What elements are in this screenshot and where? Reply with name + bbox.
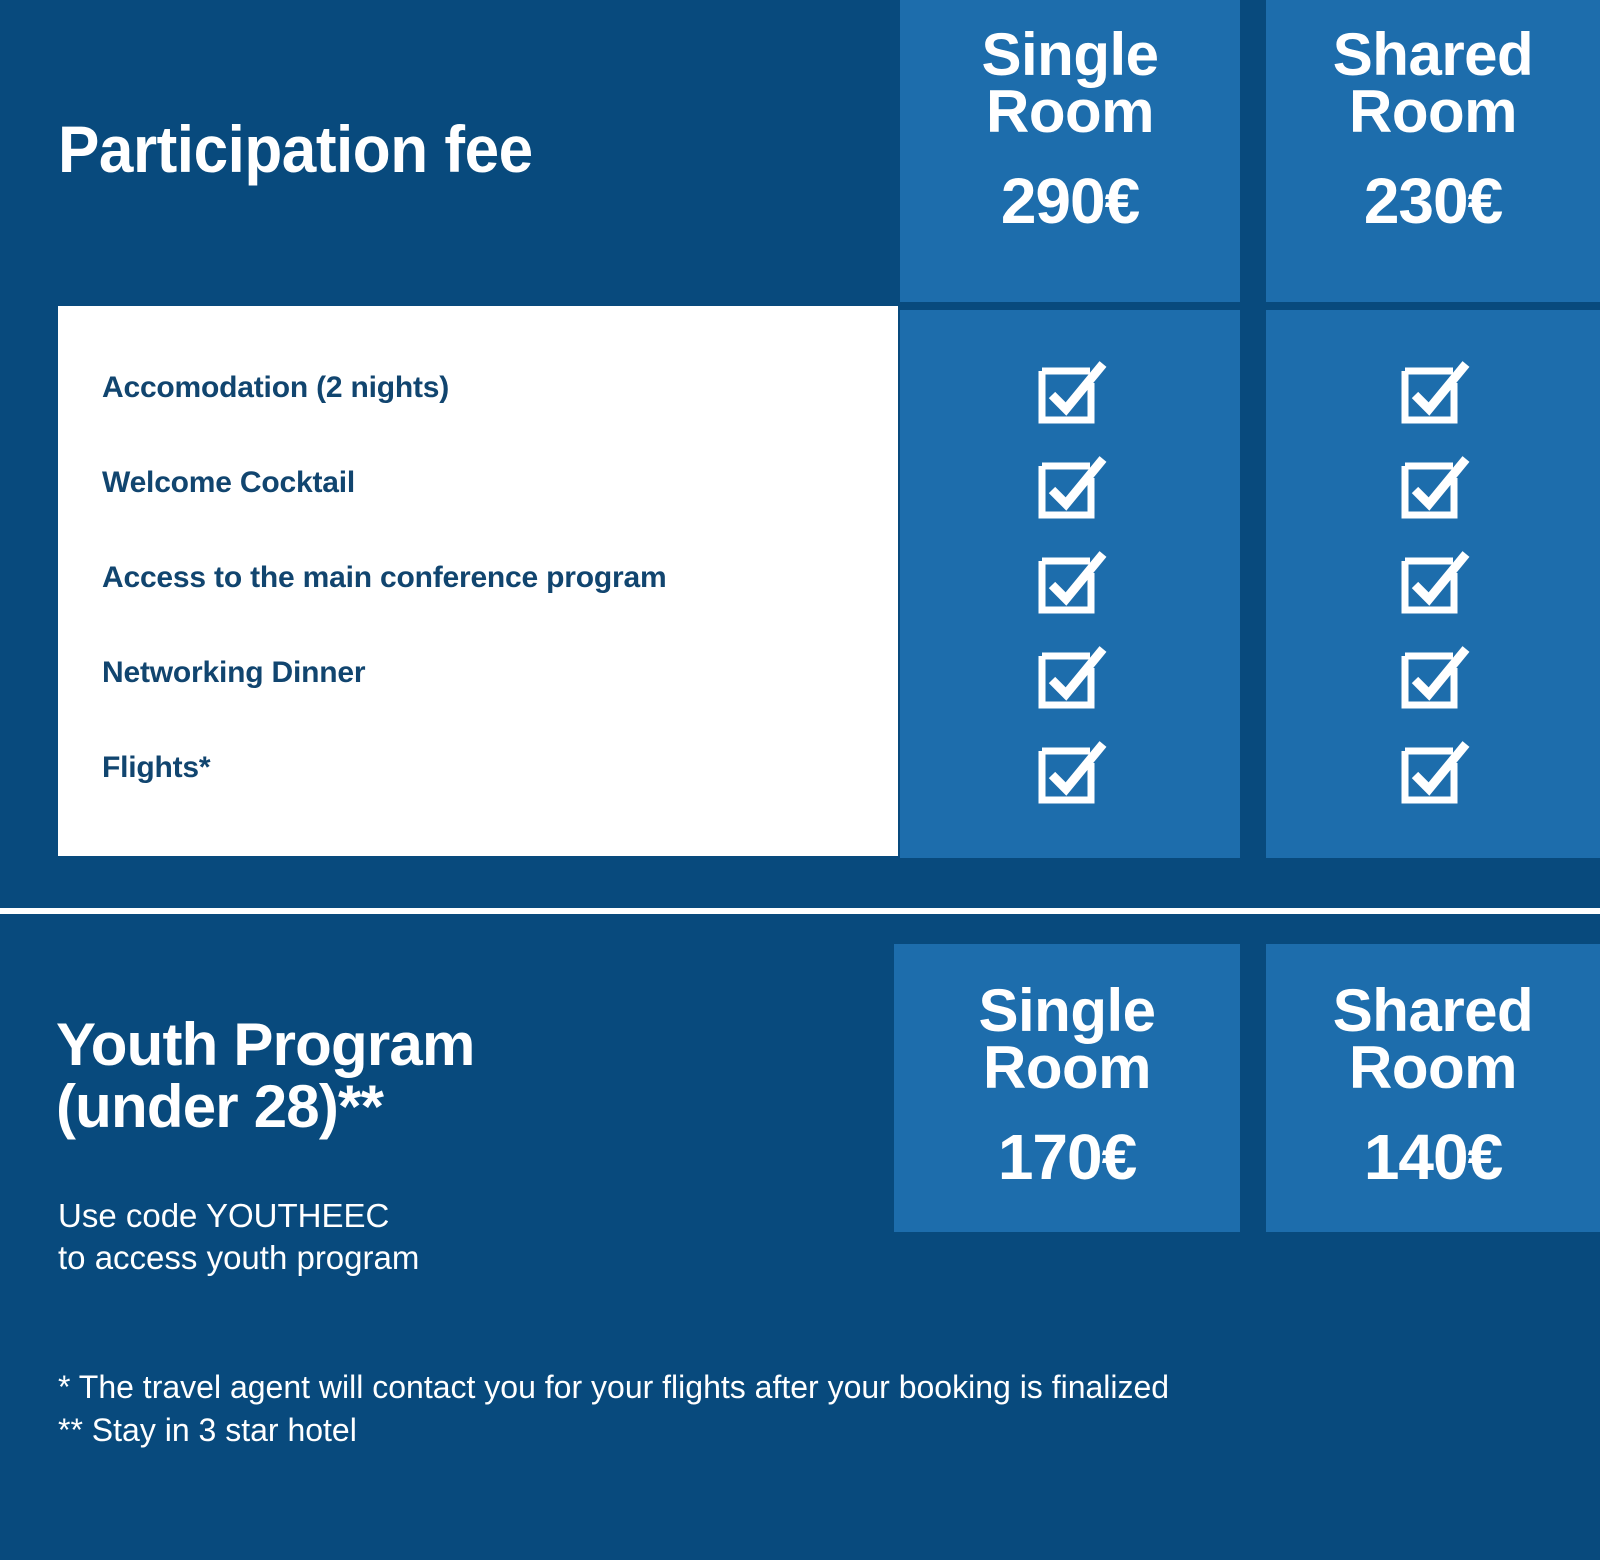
checkbox-checked-icon: [1396, 735, 1470, 809]
checkbox-checked-icon: [1396, 450, 1470, 524]
youth-code-line2: to access youth program: [58, 1237, 419, 1279]
single-room-check-welcome-cocktail: [900, 439, 1240, 534]
youth-promo-code-note: Use code YOUTHEEC to access youth progra…: [58, 1195, 419, 1279]
youth-title-line2: (under 28)**: [56, 1076, 475, 1138]
single-room-header-cell: Single Room 290€: [900, 0, 1240, 302]
checkbox-checked-icon: [1033, 735, 1107, 809]
shared-room-check-networking-dinner: [1266, 629, 1600, 724]
features-panel: Accomodation (2 nights) Welcome Cocktail…: [58, 306, 898, 856]
room-name-line2: Room: [900, 83, 1240, 140]
footnotes: * The travel agent will contact you for …: [58, 1366, 1169, 1452]
single-room-label: Single Room: [900, 26, 1240, 140]
youth-single-room-price: 170€: [894, 1120, 1240, 1194]
list-item: Networking Dinner: [102, 625, 882, 720]
checkbox-checked-icon: [1033, 545, 1107, 619]
youth-title-line1: Youth Program: [56, 1011, 475, 1078]
youth-single-room-cell: Single Room 170€: [894, 944, 1240, 1232]
checkbox-checked-icon: [1396, 355, 1470, 429]
list-item: Access to the main conference program: [102, 530, 882, 625]
room-name-line2: Room: [894, 1039, 1240, 1096]
checkbox-checked-icon: [1033, 640, 1107, 714]
youth-shared-room-price: 140€: [1266, 1120, 1600, 1194]
shared-room-check-accomodation: [1266, 344, 1600, 439]
participation-fee-title: Participation fee: [58, 116, 533, 183]
room-name-line2: Room: [1266, 1039, 1600, 1096]
youth-single-room-label: Single Room: [894, 982, 1240, 1096]
shared-room-check-conference-access: [1266, 534, 1600, 629]
features-list: Accomodation (2 nights) Welcome Cocktail…: [102, 340, 882, 815]
shared-room-label: Shared Room: [1266, 26, 1600, 140]
single-room-check-flights: [900, 724, 1240, 819]
shared-room-header-cell: Shared Room 230€: [1266, 0, 1600, 302]
youth-shared-room-label: Shared Room: [1266, 982, 1600, 1096]
shared-room-checks-column: [1266, 310, 1600, 858]
shared-room-check-welcome-cocktail: [1266, 439, 1600, 534]
checkbox-checked-icon: [1396, 640, 1470, 714]
youth-program-section: Youth Program (under 28)** Use code YOUT…: [0, 914, 1600, 1560]
footnote-flights: * The travel agent will contact you for …: [58, 1366, 1169, 1409]
single-room-check-networking-dinner: [900, 629, 1240, 724]
single-room-check-accomodation: [900, 344, 1240, 439]
shared-room-check-flights: [1266, 724, 1600, 819]
youth-program-title: Youth Program (under 28)**: [56, 1014, 475, 1138]
checkbox-checked-icon: [1033, 355, 1107, 429]
room-name-line2: Room: [1266, 83, 1600, 140]
shared-room-price: 230€: [1266, 164, 1600, 238]
youth-shared-room-cell: Shared Room 140€: [1266, 944, 1600, 1232]
list-item: Flights*: [102, 720, 882, 815]
list-item: Welcome Cocktail: [102, 435, 882, 530]
single-room-check-conference-access: [900, 534, 1240, 629]
single-room-price: 290€: [900, 164, 1240, 238]
checkbox-checked-icon: [1033, 450, 1107, 524]
youth-code-line1: Use code YOUTHEEC: [58, 1197, 389, 1234]
participation-fee-section: Participation fee Single Room 290€ Share…: [0, 0, 1600, 910]
footnote-hotel: ** Stay in 3 star hotel: [58, 1409, 1169, 1452]
single-room-checks-column: [900, 310, 1240, 858]
list-item: Accomodation (2 nights): [102, 340, 882, 435]
checkbox-checked-icon: [1396, 545, 1470, 619]
